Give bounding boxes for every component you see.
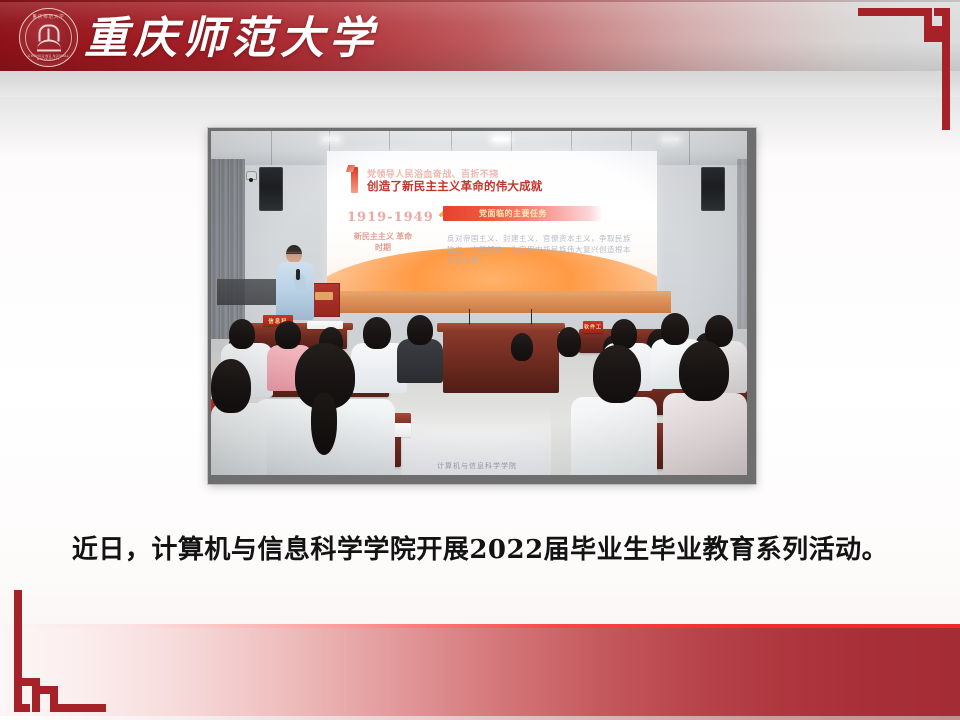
slide-body-text: 反对帝国主义、封建主义、官僚资本主义，争取民族独立、人民解放，为实现中华民族伟大… [447, 233, 637, 266]
presenter-microphone-icon [296, 269, 300, 280]
presentation-slide: 重庆师范大学 CHONGQING NORMAL UNIVERSITY 重庆师范大… [0, 0, 960, 720]
audience-head [407, 315, 433, 345]
footer-bottom-rule [0, 716, 960, 720]
slide-task-banner: 党面临的主要任务 [443, 206, 601, 221]
audience-torso-front [211, 403, 267, 475]
audience-head-front [679, 341, 729, 401]
header-under-strip [0, 71, 960, 97]
event-photo-frame: 党领导人民浴血奋战、百折不挠 创造了新民主主义革命的伟大成就 1919-1949… [208, 128, 756, 484]
emblem-flame-book-glyph [36, 24, 62, 50]
audience-head [229, 319, 255, 349]
slide-number-marker [351, 167, 358, 193]
audience-head [275, 321, 301, 349]
audience-torso [397, 339, 443, 383]
event-photo: 党领导人民浴血奋战、百折不挠 创造了新民主主义革命的伟大成就 1919-1949… [211, 131, 747, 475]
slide-year-range: 1919-1949 [347, 210, 434, 225]
wall-speaker-left [259, 167, 283, 211]
audience-torso-front [663, 393, 747, 475]
audience-torso-front [571, 397, 657, 475]
audience-head-front [593, 345, 641, 403]
side-equipment-table [217, 279, 279, 305]
audience-head [661, 313, 689, 345]
corner-bracket-top-right-icon [858, 8, 950, 130]
slide-heading-main: 创造了新民主主义革命的伟大成就 [367, 178, 543, 194]
slide-caption: 近日，计算机与信息科学学院开展2022届毕业生毕业教育系列活动。 [0, 529, 960, 566]
footer-band [0, 628, 960, 720]
university-logo: 重庆师范大学 CHONGQING NORMAL UNIVERSITY [16, 6, 80, 68]
audience-head [511, 333, 533, 361]
university-emblem-icon: 重庆师范大学 CHONGQING NORMAL UNIVERSITY [19, 8, 78, 67]
window-curtain-right [737, 159, 747, 329]
projection-screen: 党领导人民浴血奋战、百折不挠 创造了新民主主义革命的伟大成就 1919-1949… [327, 151, 657, 293]
emblem-ring-text-top: 重庆师范大学 [20, 15, 77, 19]
corner-bracket-bottom-left-icon [14, 590, 106, 712]
audience-ponytail [311, 393, 337, 455]
audience-head [557, 327, 581, 357]
security-camera-icon [246, 171, 257, 180]
presenter-glasses [286, 253, 302, 257]
slide-task-banner-label: 党面临的主要任务 [479, 208, 547, 219]
university-wordmark: 重庆师范大学 [84, 3, 378, 65]
audience-head [363, 317, 391, 349]
audience-head-front [211, 359, 251, 413]
slide-era-label: 新民主主义 革命时期 [353, 231, 413, 253]
floor-reflection-text: 计算机与信息科学学院 [407, 461, 547, 471]
emblem-ring-text-bottom: CHONGQING NORMAL UNIVERSITY [20, 55, 77, 61]
wall-speaker-right [701, 167, 725, 211]
